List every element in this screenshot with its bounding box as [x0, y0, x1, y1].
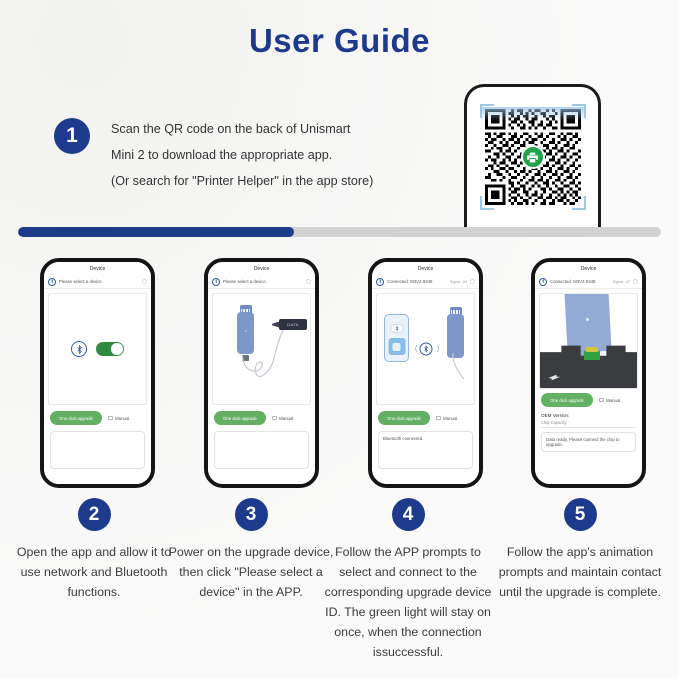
device-led-icon — [586, 318, 589, 321]
manual-checkbox[interactable] — [599, 398, 604, 403]
phone-power-button — [483, 320, 484, 344]
step-3-caption: Power on the upgrade device, then click … — [166, 542, 336, 602]
step-4: 4 Follow the APP prompts to select and c… — [323, 498, 493, 662]
app-canvas-1 — [48, 293, 147, 405]
user-guide-page: User Guide 1 Scan the QR code on the bac… — [0, 0, 679, 679]
app-canvas-2: DATA — [212, 293, 311, 405]
phone-mockup-3: Device Connected: M3V2-9348 Signal: -54 — [368, 258, 483, 488]
manual-checkbox-group[interactable]: Manual — [599, 398, 620, 403]
app-screen-3: Device Connected: M3V2-9348 Signal: -54 — [372, 262, 479, 484]
step-2: 2 Open the app and allow it to use netwo… — [9, 498, 179, 602]
connected-device-label[interactable]: Connected: M3V2-9348 — [550, 279, 610, 284]
app-bar-right — [306, 279, 311, 284]
step-badge-4: 4 — [392, 498, 425, 531]
phone-side-button — [40, 304, 41, 316]
manual-label: Manual — [443, 416, 457, 421]
app-bar-right: Signal: -54 — [450, 279, 475, 284]
toggle-knob — [111, 343, 122, 354]
phone-volume-button — [40, 322, 41, 342]
app-screen-2: Device Please select a device. — [208, 262, 315, 484]
scan-corner-icon — [480, 104, 494, 118]
data-connector: DATA — [279, 319, 307, 330]
bluetooth-icon — [212, 278, 220, 286]
phone-mockup-1: Device Please select a device. — [40, 258, 155, 488]
manual-checkbox[interactable] — [272, 416, 277, 421]
phone-power-button — [319, 320, 320, 344]
manual-checkbox-group[interactable]: Manual — [436, 416, 457, 421]
phone-volume-button — [531, 322, 532, 342]
app-title: Device — [44, 262, 151, 275]
gear-icon[interactable] — [470, 279, 475, 284]
bluetooth-toggle[interactable] — [96, 342, 124, 356]
phone-volume-button — [204, 322, 205, 342]
app-title: Device — [535, 262, 642, 275]
one-click-upgrade-button[interactable]: One click upgrade — [50, 411, 102, 425]
bluetooth-icon-large — [71, 341, 87, 357]
scan-corner-icon — [572, 196, 586, 210]
gear-icon[interactable] — [306, 279, 311, 284]
manual-checkbox[interactable] — [108, 416, 113, 421]
scan-band — [480, 107, 586, 121]
upgrade-device-icon — [564, 294, 611, 353]
connected-device-label[interactable]: Connected: M3V2-9348 — [387, 279, 447, 284]
phone-volume-button — [368, 322, 369, 342]
one-click-upgrade-button[interactable]: One click upgrade — [214, 411, 266, 425]
step-badge-3: 3 — [235, 498, 268, 531]
step-3: 3 Power on the upgrade device, then clic… — [166, 498, 336, 602]
qr-phone-mockup — [464, 84, 601, 234]
app-screen-4: Device Connected: M3V2-9348 Signal: -47 — [535, 262, 642, 484]
step-badge-5: 5 — [564, 498, 597, 531]
phone-power-button — [646, 320, 647, 344]
app-bar-right — [142, 279, 147, 284]
app-title: Device — [372, 262, 479, 275]
step-5: 5 Follow the app's animation prompts and… — [495, 498, 665, 602]
log-box-1 — [50, 431, 145, 469]
step-4-caption: Follow the APP prompts to select and con… — [323, 542, 493, 662]
app-bar[interactable]: Connected: M3V2-9348 Signal: -47 — [535, 275, 642, 289]
app-screen-1: Device Please select a device. — [44, 262, 151, 484]
progress-bar[interactable] — [18, 227, 661, 237]
log-box-2 — [214, 431, 309, 469]
gear-icon[interactable] — [142, 279, 147, 284]
bluetooth-icon — [48, 278, 56, 286]
control-row-2: One click upgrade Manual — [208, 405, 315, 431]
phone-mockup-4: Device Connected: M3V2-9348 Signal: -47 — [531, 258, 646, 488]
printer-icon — [521, 145, 545, 169]
bluetooth-toggle-art — [49, 294, 146, 404]
one-click-upgrade-button[interactable]: One click upgrade — [378, 411, 430, 425]
phone-side-button — [204, 304, 205, 316]
scan-corner-icon — [572, 104, 586, 118]
page-title: User Guide — [0, 22, 679, 60]
app-bar[interactable]: Please select a device. — [208, 275, 315, 289]
step-1-line-2: Mini 2 to download the appropriate app. — [111, 142, 441, 168]
manual-label: Manual — [115, 416, 129, 421]
manual-checkbox[interactable] — [436, 416, 441, 421]
phone-power-button — [155, 320, 156, 344]
manual-checkbox-group[interactable]: Manual — [108, 416, 129, 421]
step-1-line-1: Scan the QR code on the back of Unismart — [111, 116, 441, 142]
step-badge-1: 1 — [54, 118, 90, 154]
signal-label: Signal: -54 — [450, 280, 467, 284]
log-box-4: Data ready. Please connect the chip to u… — [541, 432, 636, 452]
cable-path — [377, 294, 474, 397]
log-box-3: Bluetooth connected. — [378, 431, 473, 469]
manual-label: Manual — [279, 416, 293, 421]
chip-contact-animation — [540, 294, 637, 388]
step-badge-2: 2 — [78, 498, 111, 531]
select-device-label[interactable]: Please select a device. — [223, 279, 303, 284]
qr-code-icon — [485, 109, 581, 205]
signal-label: Signal: -47 — [613, 280, 630, 284]
app-canvas-3: ( ) — [376, 293, 475, 405]
app-title: Device — [208, 262, 315, 275]
step-2-caption: Open the app and allow it to use network… — [9, 542, 179, 602]
gear-icon[interactable] — [633, 279, 638, 284]
phone-side-button — [531, 304, 532, 316]
printer-chip-icon — [584, 351, 600, 360]
bluetooth-icon — [376, 278, 384, 286]
app-bar[interactable]: Please select a device. — [44, 275, 151, 289]
step-1-text: Scan the QR code on the back of Unismart… — [111, 116, 441, 194]
app-bar[interactable]: Connected: M3V2-9348 Signal: -54 — [372, 275, 479, 289]
chip-capacity-label: Chip Capacity — [541, 420, 636, 428]
manual-label: Manual — [606, 398, 620, 403]
select-device-label[interactable]: Please select a device. — [59, 279, 139, 284]
progress-bar-fill — [18, 227, 294, 237]
app-canvas-4 — [539, 293, 638, 389]
phone-side-button — [368, 304, 369, 316]
control-row-1: One click upgrade Manual — [44, 405, 151, 431]
bluetooth-icon — [539, 278, 547, 286]
control-row-3: One click upgrade Manual — [372, 405, 479, 431]
phone-screens-row: Device Please select a device. — [0, 252, 679, 492]
step-1-line-3: (Or search for "Printer Helper" in the a… — [111, 168, 441, 194]
manual-checkbox-group[interactable]: Manual — [272, 416, 293, 421]
cable-path — [213, 294, 310, 397]
scan-corner-icon — [480, 196, 494, 210]
one-click-upgrade-button[interactable]: One click upgrade — [541, 393, 593, 407]
phone-mockup-2: Device Please select a device. — [204, 258, 319, 488]
app-bar-right: Signal: -47 — [613, 279, 638, 284]
control-row-4: One click upgrade Manual — [535, 389, 642, 411]
oem-version-label: OEM Version: — [541, 413, 636, 418]
step-5-caption: Follow the app's animation prompts and m… — [495, 542, 665, 602]
